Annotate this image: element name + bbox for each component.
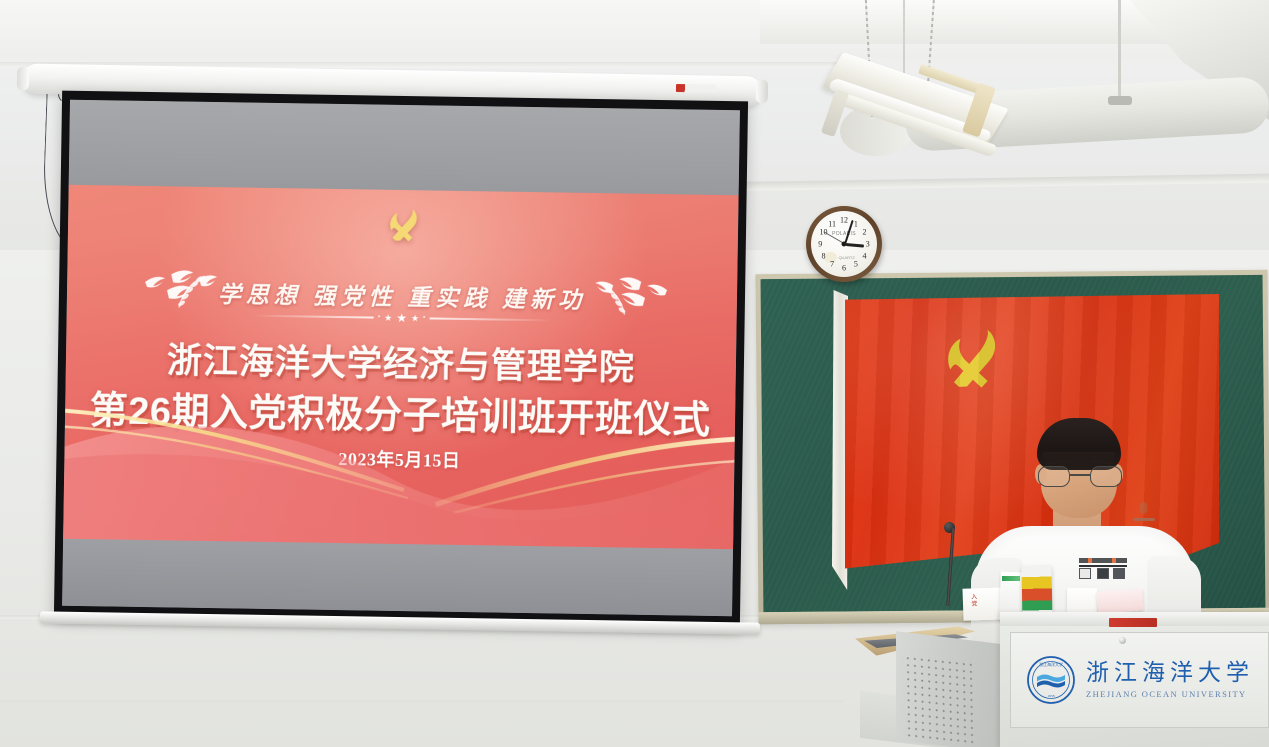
podium-university-name-cn: 浙江海洋大学 xyxy=(1086,661,1254,684)
star-icon: ★ xyxy=(411,314,419,323)
podium-university-name-en: ZHEJIANG OCEAN UNIVERSITY xyxy=(1086,689,1254,699)
clock-numeral: 2 xyxy=(862,228,866,237)
clock-numeral: 4 xyxy=(862,251,866,260)
nose xyxy=(1140,502,1147,514)
clock-numeral: 11 xyxy=(828,219,836,228)
clock-numeral: 1 xyxy=(854,219,858,228)
wall-seam xyxy=(0,700,845,703)
slide-slogan-text: 学思想 强党性 重实践 建新功 xyxy=(218,275,587,315)
clock-center-pin xyxy=(842,242,847,247)
clock-hour-hand xyxy=(845,242,864,247)
screen-brand-label xyxy=(676,84,716,93)
svg-text:浙江海洋大学: 浙江海洋大学 xyxy=(1039,661,1063,667)
screen-surface: 学思想 强党性 重实践 建新功 xyxy=(62,100,740,616)
podium-speaker-grille xyxy=(904,654,973,745)
box-strip xyxy=(1002,576,1020,581)
housing-end-cap xyxy=(17,66,29,90)
duct-hanger-clamp xyxy=(1108,96,1132,105)
star-icon: ★ xyxy=(384,313,392,322)
hammer-and-sickle-icon xyxy=(929,323,1014,406)
university-seal-icon: 浙江海洋大学 1958 xyxy=(1026,655,1076,705)
podium-lock-icon[interactable] xyxy=(1119,637,1126,644)
clock-numeral: 8 xyxy=(822,251,826,260)
podium-warning-label xyxy=(1109,618,1157,627)
duct-hanger-rod xyxy=(1118,0,1121,100)
star-icon: ★ xyxy=(396,312,407,324)
mouth xyxy=(1133,518,1155,521)
hammer-and-sickle-icon xyxy=(381,207,425,249)
clock-numeral: 9 xyxy=(818,240,822,249)
name-card-text: 入党 xyxy=(969,593,977,607)
projection-screen[interactable]: 学思想 强党性 重实践 建新功 xyxy=(54,91,748,627)
fluorescent-light-icon xyxy=(820,60,1050,200)
document-sheet xyxy=(1096,588,1143,613)
presentation-slide: 学思想 强党性 重实践 建新功 xyxy=(63,185,738,549)
glasses-icon xyxy=(1035,466,1125,488)
classroom-scene: POLARIS QUARTZ 12 1 2 3 4 5 6 7 8 9 10 1… xyxy=(0,0,1269,747)
clock-numeral: 5 xyxy=(854,260,858,269)
podium-branding: 浙江海洋大学 1958 浙江海洋大学 ZHEJIANG OCEAN UNIVER… xyxy=(1026,655,1254,705)
clock-numeral: 3 xyxy=(866,240,870,249)
clock-sub-label: QUARTZ xyxy=(838,255,854,260)
wall-clock: POLARIS QUARTZ 12 1 2 3 4 5 6 7 8 9 10 1… xyxy=(806,206,882,282)
screen-letterbox-top xyxy=(69,100,740,196)
clock-brand-label: POLARIS xyxy=(832,231,856,237)
laurel-branch-icon xyxy=(596,277,631,320)
clock-numeral: 7 xyxy=(830,260,834,269)
clock-numeral: 6 xyxy=(842,263,846,272)
shirt-graphic xyxy=(1079,558,1127,580)
clock-numeral: 12 xyxy=(840,216,848,225)
laurel-branch-icon xyxy=(174,270,209,313)
clock-face: POLARIS QUARTZ 12 1 2 3 4 5 6 7 8 9 10 1… xyxy=(811,211,877,277)
svg-text:1958: 1958 xyxy=(1048,694,1055,698)
golden-ribbon-decoration xyxy=(63,389,735,550)
housing-end-cap xyxy=(756,79,768,103)
